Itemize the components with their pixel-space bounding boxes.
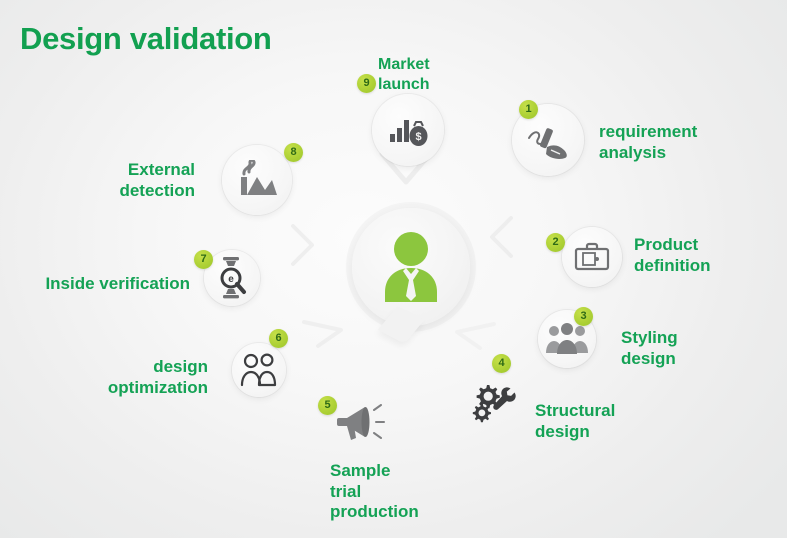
gear-wrench-icon bbox=[468, 378, 520, 430]
step-7-badge: 7 bbox=[194, 250, 213, 269]
step-6-label: design optimization bbox=[48, 357, 208, 398]
briefcase-icon bbox=[562, 227, 622, 287]
connector-arrow-lower-left bbox=[300, 316, 346, 350]
step-6-badge: 6 bbox=[269, 329, 288, 348]
svg-text:e: e bbox=[228, 274, 234, 285]
connector-arrow-right-upper bbox=[288, 222, 318, 268]
step-5-badge: 5 bbox=[318, 396, 337, 415]
step-1-label: requirement analysis bbox=[599, 122, 697, 163]
connector-arrow-left-upper bbox=[486, 214, 516, 260]
bar-chart-money-bag-icon: $ bbox=[372, 94, 444, 166]
megaphone-icon bbox=[330, 395, 396, 451]
infographic-canvas: Design validation bbox=[0, 0, 787, 538]
step-3-label: Styling design bbox=[621, 328, 678, 369]
step-1-badge: 1 bbox=[519, 100, 538, 119]
step-8-label: External detection bbox=[30, 160, 195, 201]
step-9-label: Market launch bbox=[378, 55, 430, 94]
step-9-badge: 9 bbox=[357, 74, 376, 93]
two-people-icon bbox=[232, 343, 286, 397]
step-2-label: Product definition bbox=[634, 235, 710, 276]
step-8-badge: 8 bbox=[284, 143, 303, 162]
step-5-label: Sample trial production bbox=[330, 461, 419, 523]
center-node bbox=[352, 208, 470, 326]
factory-icon bbox=[222, 145, 292, 215]
step-4-badge: 4 bbox=[492, 354, 511, 373]
businessperson-icon bbox=[352, 208, 470, 326]
step-7-label: Inside verification bbox=[20, 274, 190, 295]
page-title: Design validation bbox=[20, 21, 272, 57]
step-3-badge: 3 bbox=[574, 307, 593, 326]
svg-text:$: $ bbox=[415, 131, 421, 143]
step-2-badge: 2 bbox=[546, 233, 565, 252]
step-4-label: Structural design bbox=[535, 401, 615, 442]
